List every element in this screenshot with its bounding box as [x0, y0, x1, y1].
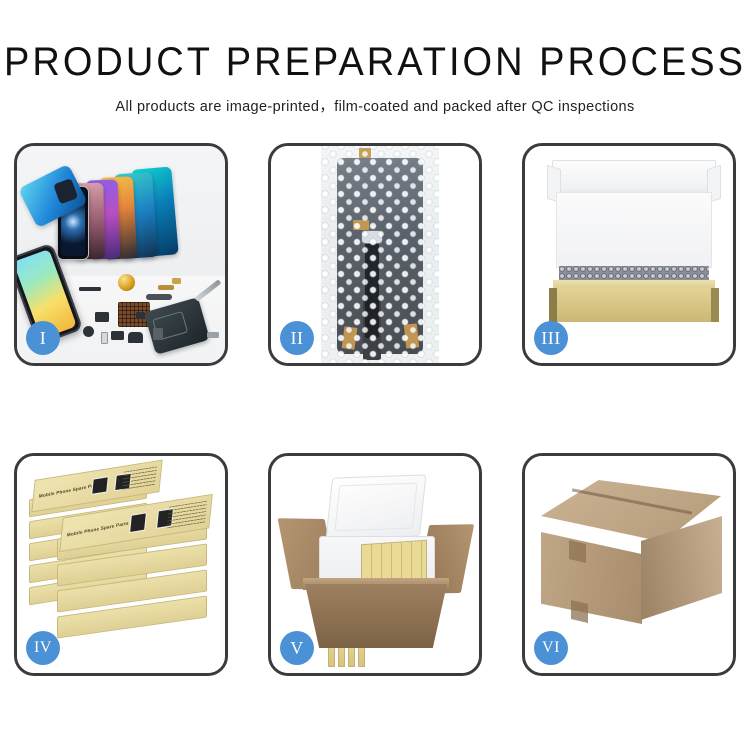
- carton-tape-lower: [571, 600, 588, 623]
- spare-part: [101, 332, 108, 344]
- connector: [361, 230, 383, 244]
- process-step-panel-6: VI: [522, 453, 736, 676]
- spare-part: [128, 332, 143, 343]
- step-badge-4: IV: [26, 631, 60, 665]
- spare-part: [207, 332, 219, 338]
- carton-body: [305, 584, 447, 648]
- spare-part: [95, 312, 109, 322]
- step-badge-2: II: [280, 321, 314, 355]
- spare-part: [83, 326, 94, 337]
- box-spec-text-block: [122, 466, 157, 492]
- spare-part: [111, 331, 124, 340]
- tape-tab: [359, 148, 371, 158]
- step-badge-6: VI: [534, 631, 568, 665]
- spare-part: [79, 287, 101, 291]
- spare-part: [153, 328, 163, 340]
- tape-tab: [404, 323, 419, 348]
- process-step-panel-4: Mobile Phone Spare Parts Mobile Phone Sp…: [14, 453, 228, 676]
- box-stack: Mobile Phone Spare Parts Mobile Phone Sp…: [27, 472, 219, 662]
- process-step-grid: I II: [14, 143, 736, 676]
- foam-sheet: [556, 192, 712, 268]
- box-artwork-phone: [129, 512, 147, 533]
- carton-tape-upper: [569, 540, 586, 563]
- box-lid-open: [552, 160, 716, 196]
- step-badge-1: I: [26, 321, 60, 355]
- tape-tab: [342, 326, 358, 350]
- process-step-panel-1: I: [14, 143, 228, 366]
- spare-part: [158, 285, 174, 290]
- lcd-assembly: [337, 158, 423, 354]
- product-preparation-page: PRODUCT PREPARATION PROCESS All products…: [0, 0, 750, 750]
- page-subtitle: All products are image-printed，film-coat…: [0, 95, 750, 116]
- box-artwork-phone: [91, 476, 109, 496]
- bubble-wrap-bag: [321, 146, 439, 363]
- process-step-panel-5: V: [268, 453, 482, 676]
- gold-component: [118, 274, 135, 291]
- spare-part: [146, 294, 172, 300]
- styrofoam-lid: [326, 474, 427, 539]
- page-title: PRODUCT PREPARATION PROCESS: [0, 41, 750, 83]
- box-label-text: Mobile Phone Spare Parts: [67, 521, 129, 538]
- box-spec-text-block: [166, 501, 207, 529]
- tape-tab: [353, 220, 369, 230]
- page-header: PRODUCT PREPARATION PROCESS All products…: [0, 0, 750, 130]
- step-badge-3: III: [534, 321, 568, 355]
- process-step-panel-3: III: [522, 143, 736, 366]
- flex-cable: [365, 234, 379, 338]
- step-badge-5: V: [280, 631, 314, 665]
- carton-left-face: [541, 532, 642, 624]
- kraft-box-front: [550, 288, 718, 322]
- spare-part: [172, 278, 181, 284]
- process-step-panel-2: II: [268, 143, 482, 366]
- spare-part: [136, 312, 145, 319]
